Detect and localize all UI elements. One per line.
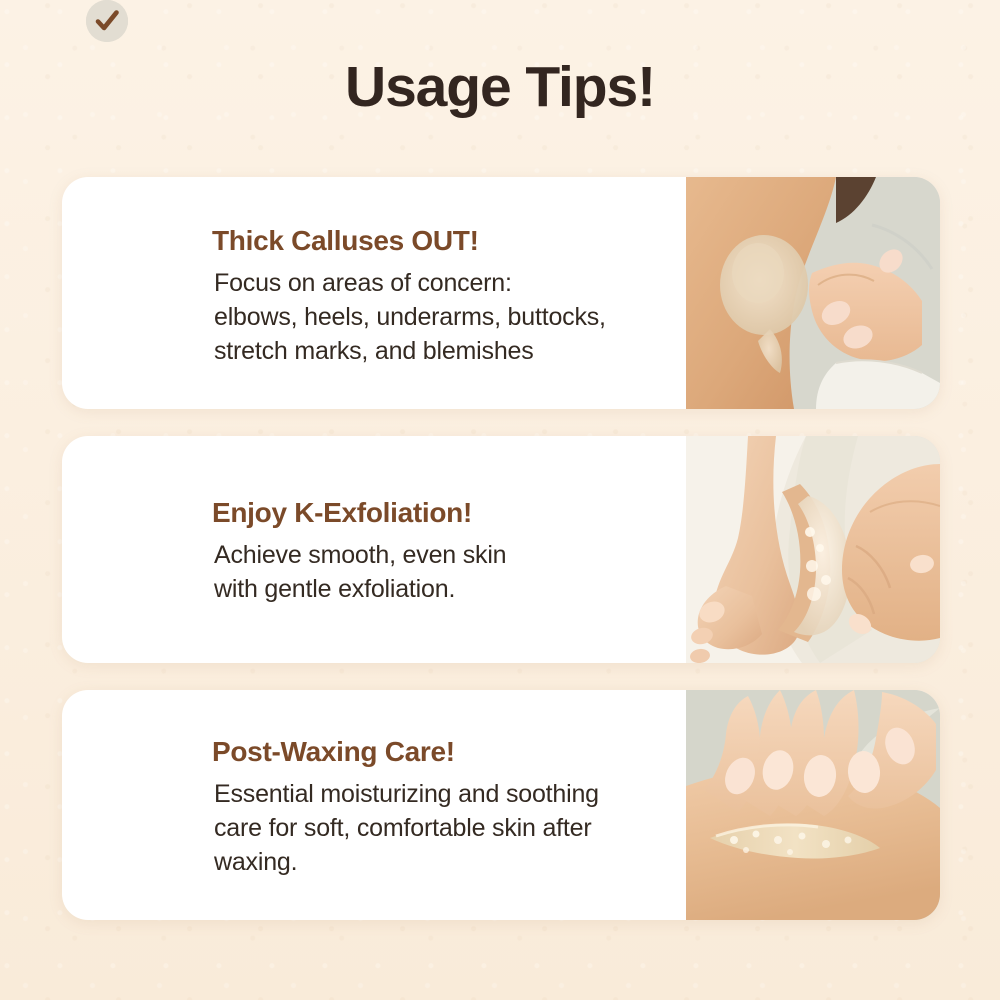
tip-card-1-photo (686, 177, 940, 409)
tip-card-2-heading: Enjoy K-Exfoliation! (212, 496, 722, 530)
usage-tips-page: Usage Tips! Thick Calluses OUT! Focus on… (0, 0, 1000, 1000)
check-icon (86, 0, 128, 42)
tip-card-3-text: Post-Waxing Care! Essential moisturizing… (62, 690, 748, 920)
page-title: Usage Tips! (0, 52, 1000, 122)
tip-card-1-heading: Thick Calluses OUT! (212, 224, 722, 258)
tip-card-3-photo (686, 690, 940, 920)
tip-card-1-body: Focus on areas of concern: elbows, heels… (214, 266, 722, 368)
tip-card-2: Enjoy K-Exfoliation! Achieve smooth, eve… (62, 436, 940, 663)
tip-card-2-photo (686, 436, 940, 663)
tip-card-1-text: Thick Calluses OUT! Focus on areas of co… (62, 177, 748, 409)
tip-card-2-body: Achieve smooth, even skin with gentle ex… (214, 538, 722, 606)
tip-card-3-heading: Post-Waxing Care! (212, 735, 722, 769)
tip-card-3: Post-Waxing Care! Essential moisturizing… (62, 690, 940, 920)
tip-card-2-text: Enjoy K-Exfoliation! Achieve smooth, eve… (62, 436, 748, 663)
tip-card-1: Thick Calluses OUT! Focus on areas of co… (62, 177, 940, 409)
tip-card-3-body: Essential moisturizing and soothing care… (214, 777, 722, 879)
